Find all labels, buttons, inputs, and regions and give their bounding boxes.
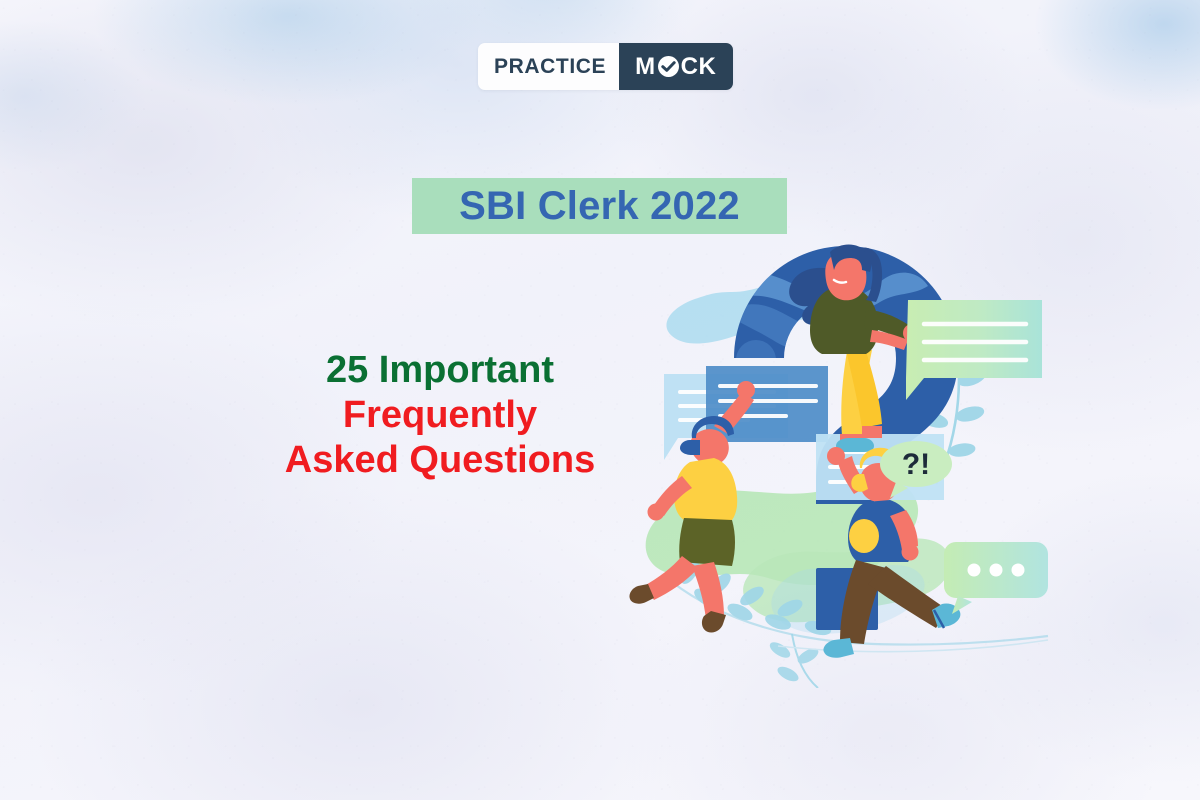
headline-line-3: Asked Questions xyxy=(175,438,705,483)
logo-word-practice: PRACTICE xyxy=(478,43,619,90)
exam-title-text: SBI Clerk 2022 xyxy=(459,184,740,229)
logo-letters-ck: CK xyxy=(681,53,717,81)
logo-letter-m: M xyxy=(635,53,656,81)
exam-title-banner: SBI Clerk 2022 xyxy=(412,178,787,234)
typing-dots-bubble xyxy=(944,542,1048,614)
ground-line xyxy=(778,640,1048,652)
confused-bubble-text: ?! xyxy=(902,448,930,481)
logo-word-mock: M CK xyxy=(619,43,733,90)
poster-canvas: PRACTICE M CK SBI Clerk 2022 25 Importan… xyxy=(0,0,1200,800)
headline-line-2: Frequently xyxy=(175,393,705,438)
headline-block: 25 Important Frequently Asked Questions xyxy=(175,348,705,484)
headline-line-1: 25 Important xyxy=(175,348,705,393)
checkmark-icon xyxy=(658,56,679,77)
typing-dots xyxy=(968,564,1025,577)
leaf-branch-bottom-center xyxy=(768,634,820,688)
faq-question-mark-illustration: ?! xyxy=(628,238,1068,688)
practicemock-logo[interactable]: PRACTICE M CK xyxy=(478,43,733,90)
